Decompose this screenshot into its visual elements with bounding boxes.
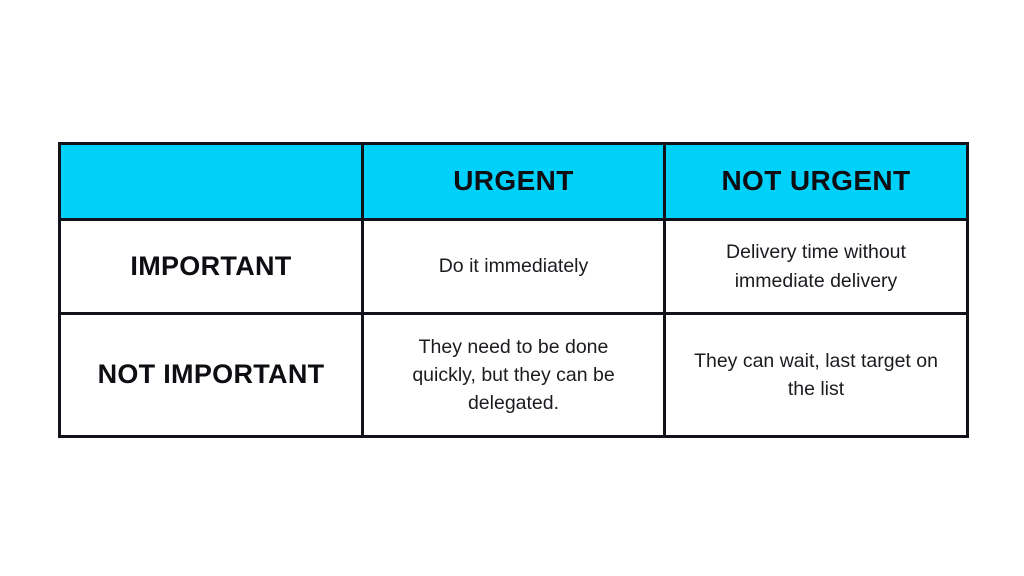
- eisenhower-matrix: URGENT NOT URGENT IMPORTANT Do it immedi…: [58, 142, 966, 435]
- header-label-urgent: URGENT: [378, 166, 649, 197]
- cell-important-urgent: Do it immediately: [363, 220, 665, 314]
- cell-text-not-important-urgent: They need to be done quickly, but they c…: [386, 333, 641, 418]
- matrix-row-important: IMPORTANT Do it immediately Delivery tim…: [60, 220, 968, 314]
- matrix-row-not-important: NOT IMPORTANT They need to be done quick…: [60, 314, 968, 437]
- row-label-not-important: NOT IMPORTANT: [75, 360, 347, 390]
- header-cell-not-urgent: NOT URGENT: [665, 144, 968, 220]
- row-label-important: IMPORTANT: [75, 252, 347, 282]
- row-label-cell-important: IMPORTANT: [60, 220, 363, 314]
- cell-not-important-not-urgent: They can wait, last target on the list: [665, 314, 968, 437]
- row-label-cell-not-important: NOT IMPORTANT: [60, 314, 363, 437]
- header-cell-urgent: URGENT: [363, 144, 665, 220]
- cell-text-important-urgent: Do it immediately: [386, 252, 641, 280]
- header-label-not-urgent: NOT URGENT: [680, 166, 952, 197]
- matrix-table: URGENT NOT URGENT IMPORTANT Do it immedi…: [58, 142, 969, 438]
- cell-text-important-not-urgent: Delivery time without immediate delivery: [689, 238, 944, 295]
- matrix-header-row: URGENT NOT URGENT: [60, 144, 968, 220]
- cell-important-not-urgent: Delivery time without immediate delivery: [665, 220, 968, 314]
- cell-text-not-important-not-urgent: They can wait, last target on the list: [689, 347, 944, 404]
- header-corner-blank: [60, 144, 363, 220]
- cell-not-important-urgent: They need to be done quickly, but they c…: [363, 314, 665, 437]
